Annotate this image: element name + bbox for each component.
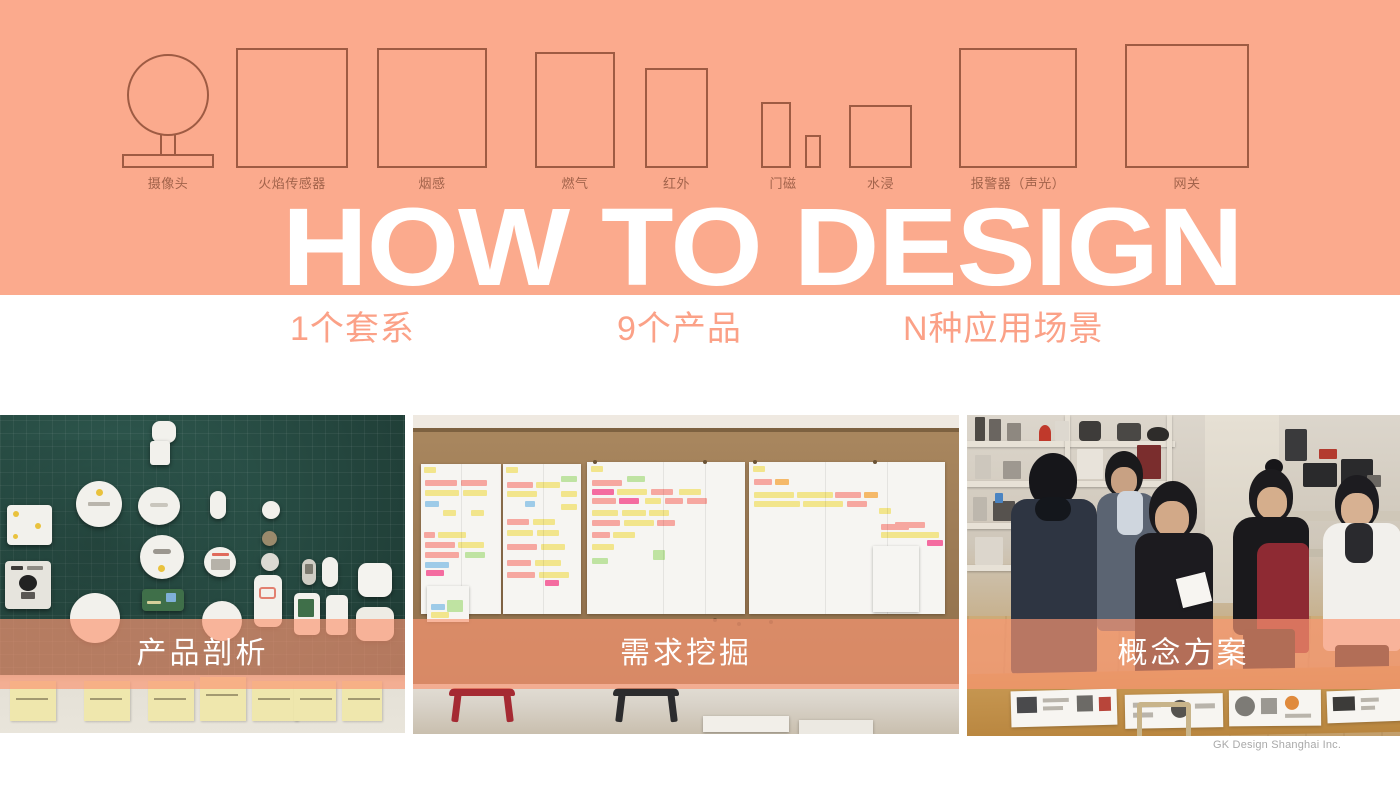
chair-back [1137, 702, 1191, 736]
shelf-object [1039, 425, 1051, 441]
photo-card-product-teardown[interactable]: 产品剖析 [0, 415, 405, 733]
concept-printout [1011, 689, 1118, 728]
infrared-sensor-icon [645, 68, 708, 168]
photo-caption-band: 产品剖析 [0, 619, 405, 689]
shelf-object [1117, 423, 1141, 441]
camera-shape-wrap [122, 54, 214, 168]
photo-card-concept-review[interactable]: 概念方案 [967, 415, 1400, 736]
shelf-object [1055, 421, 1069, 441]
sensor-part [76, 481, 122, 527]
research-sheet [503, 464, 581, 614]
door-contact-shape-wrap [761, 102, 821, 168]
photo-caption: 产品剖析 [137, 639, 269, 669]
concept-printout [1326, 689, 1400, 724]
product-item-gateway: 网关 [1125, 44, 1249, 190]
sensor-part [262, 501, 280, 519]
sensor-part [150, 441, 170, 465]
desk-object [1319, 449, 1337, 459]
smoke-sensor-icon [377, 48, 487, 168]
photo-card-needs-research[interactable]: 需求挖掘 [413, 415, 959, 734]
product-item-camera: 摄像头 [122, 54, 214, 190]
photo-caption-band: 概念方案 [967, 619, 1400, 689]
photo-caption: 概念方案 [1118, 639, 1250, 669]
board-pin [753, 460, 757, 464]
shelf-object [973, 497, 987, 521]
stool-red [447, 688, 517, 722]
sensor-part [210, 491, 226, 519]
gas-sensor-shape-wrap [535, 52, 615, 168]
slide-canvas: 摄像头 火焰传感器 烟感 燃气 [0, 0, 1400, 788]
sensor-part [261, 553, 279, 571]
product-item-door-contact: 门磁 [753, 102, 829, 190]
photo-caption: 需求挖掘 [620, 639, 752, 669]
product-item-siren-alarm: 报警器（声光） [959, 48, 1077, 190]
gateway-icon [1125, 44, 1249, 168]
product-item-infrared-sensor: 红外 [645, 68, 708, 190]
flame-sensor-icon [236, 48, 348, 168]
siren-alarm-icon [959, 48, 1077, 168]
shelf-object [1147, 427, 1169, 441]
sensor-part [262, 531, 277, 546]
subtitle-row: 1个套系 9个产品 N种应用场景 [0, 305, 1400, 361]
photo-caption-band: 需求挖掘 [413, 619, 959, 689]
camera-lens-circle [127, 54, 209, 136]
floor-paper [799, 720, 873, 734]
shelf-object [1007, 423, 1021, 441]
person-collar [1035, 497, 1071, 521]
subtitle-item-3: N种应用场景 [903, 305, 1104, 353]
subtitle-item-2: 9个产品 [617, 305, 742, 353]
person-face [1257, 487, 1287, 519]
door-magnet-icon [805, 135, 821, 168]
person-face [1341, 493, 1373, 527]
door-contact-icon [761, 102, 791, 168]
board-pin [593, 460, 597, 464]
stool-dark [611, 688, 681, 722]
research-sheet [587, 462, 745, 614]
infrared-sensor-shape-wrap [645, 68, 708, 168]
sensor-part [152, 421, 176, 443]
shelf-object [975, 537, 1003, 565]
product-item-gas-sensor: 燃气 [535, 52, 615, 190]
camera-icon [122, 54, 214, 168]
product-item-smoke-sensor: 烟感 [377, 48, 487, 190]
product-lineup-row: 摄像头 火焰传感器 烟感 燃气 [0, 0, 1400, 190]
product-item-water-leak-sensor: 水浸 [849, 105, 912, 190]
sensor-part [7, 505, 52, 545]
sensor-part [302, 559, 316, 585]
sensor-part [140, 535, 184, 579]
page-title: HOW TO DESIGN [282, 198, 1243, 295]
sensor-part [5, 561, 51, 609]
sensor-part [358, 563, 392, 597]
loose-note-sheet [427, 586, 469, 622]
product-item-flame-sensor: 火焰传感器 [236, 48, 348, 190]
siren-alarm-shape-wrap [959, 48, 1077, 168]
person-inner-top [1345, 523, 1373, 563]
product-label: 摄像头 [148, 177, 189, 190]
board-pin [703, 460, 707, 464]
loose-note-sheet [873, 546, 919, 612]
subtitle-item-1: 1个套系 [290, 305, 415, 353]
shelf-object [995, 493, 1003, 503]
hero-peach-band: 摄像头 火焰传感器 烟感 燃气 [0, 0, 1400, 295]
sensor-part [204, 547, 236, 577]
sensor-part [138, 487, 180, 525]
shelf-object [975, 455, 991, 479]
shelf-object [989, 419, 1001, 441]
smoke-sensor-shape-wrap [377, 48, 487, 168]
studio-credit: GK Design Shanghai Inc. [1213, 739, 1341, 751]
shelf-object [975, 417, 985, 441]
water-leak-icon [849, 105, 912, 168]
concept-printout [1229, 690, 1321, 727]
monitor [1285, 429, 1307, 461]
shelf-object [1079, 421, 1101, 441]
camera-stem [160, 134, 176, 156]
gas-sensor-icon [535, 52, 615, 168]
floor-paper [703, 716, 789, 732]
gateway-shape-wrap [1125, 44, 1249, 168]
board-pin [873, 460, 877, 464]
camera-base [122, 154, 214, 168]
water-leak-shape-wrap [849, 105, 912, 168]
sensor-part [322, 557, 338, 587]
person-face [1155, 501, 1189, 537]
sensor-part [142, 589, 184, 611]
process-photo-row: 产品剖析 [0, 415, 1400, 740]
flame-sensor-shape-wrap [236, 48, 348, 168]
